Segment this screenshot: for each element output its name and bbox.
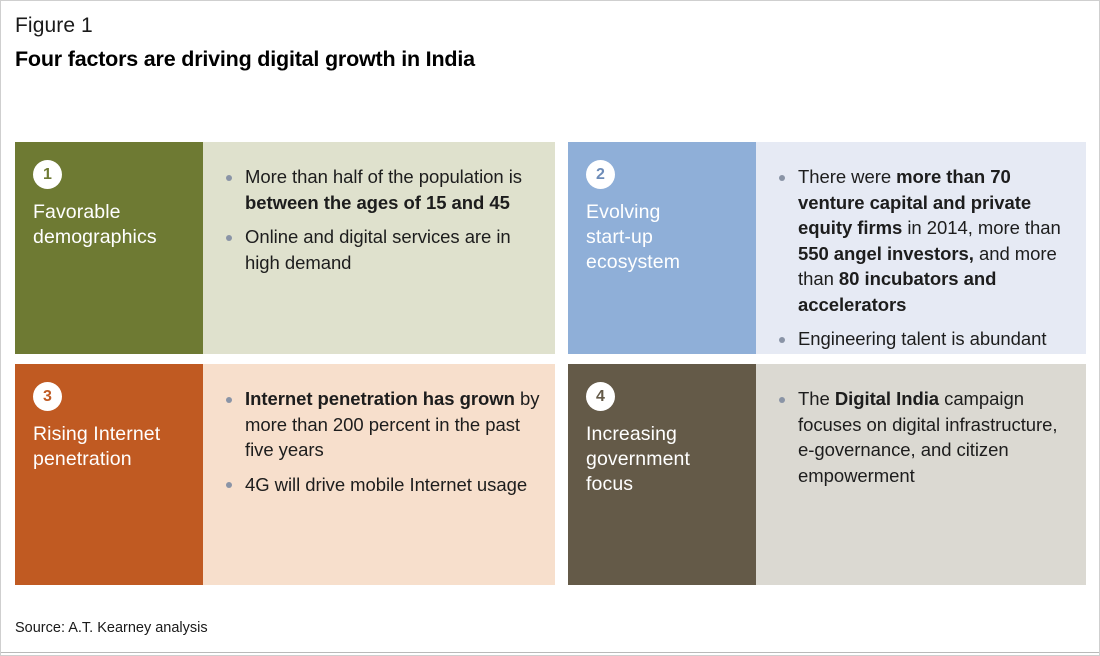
factor-1-body: More than half of the population is betw…	[203, 142, 555, 354]
factor-card-2: 2 Evolving start-up ecosystem There were…	[568, 142, 1086, 354]
factor-2-header: 2 Evolving start-up ecosystem	[568, 142, 756, 354]
factor-card-4: 4 Increasing government focus The Digita…	[568, 364, 1086, 585]
factor-4-title: Increasing government focus	[586, 422, 742, 497]
factor-1-header: 1 Favorable demographics	[15, 142, 203, 354]
factor-2-bullet-list: There were more than 70 venture capital …	[776, 164, 1074, 352]
factor-3-body: Internet penetration has grown by more t…	[203, 364, 555, 585]
factor-3-number-badge: 3	[33, 382, 62, 411]
factor-1-title: Favorable demographics	[33, 200, 189, 250]
factor-4-header: 4 Increasing government focus	[568, 364, 756, 585]
factor-2-body: There were more than 70 venture capital …	[756, 142, 1086, 354]
figure-label: Figure 1	[15, 13, 93, 39]
list-item: Internet penetration has grown by more t…	[223, 386, 543, 463]
factors-grid: 1 Favorable demographics More than half …	[15, 142, 1086, 585]
list-item: There were more than 70 venture capital …	[776, 164, 1074, 317]
factor-4-number-badge: 4	[586, 382, 615, 411]
factor-4-body: The Digital India campaign focuses on di…	[756, 364, 1086, 585]
factor-4-bullet-list: The Digital India campaign focuses on di…	[776, 386, 1074, 488]
factor-3-title: Rising Internet penetration	[33, 422, 189, 472]
factor-2-title: Evolving start-up ecosystem	[586, 200, 742, 275]
source-note: Source: A.T. Kearney analysis	[15, 619, 208, 637]
factor-3-header: 3 Rising Internet penetration	[15, 364, 203, 585]
factor-2-number-badge: 2	[586, 160, 615, 189]
page-title: Four factors are driving digital growth …	[15, 46, 475, 73]
list-item: The Digital India campaign focuses on di…	[776, 386, 1074, 488]
factor-1-number-badge: 1	[33, 160, 62, 189]
list-item: Engineering talent is abundant	[776, 326, 1074, 352]
list-item: More than half of the population is betw…	[223, 164, 543, 215]
factor-1-bullet-list: More than half of the population is betw…	[223, 164, 543, 275]
footer-divider	[1, 652, 1099, 653]
factor-card-1: 1 Favorable demographics More than half …	[15, 142, 555, 354]
list-item: 4G will drive mobile Internet usage	[223, 472, 543, 498]
factor-3-bullet-list: Internet penetration has grown by more t…	[223, 386, 543, 497]
list-item: Online and digital services are in high …	[223, 224, 543, 275]
factor-card-3: 3 Rising Internet penetration Internet p…	[15, 364, 555, 585]
figure-page: Figure 1 Four factors are driving digita…	[1, 1, 1099, 655]
